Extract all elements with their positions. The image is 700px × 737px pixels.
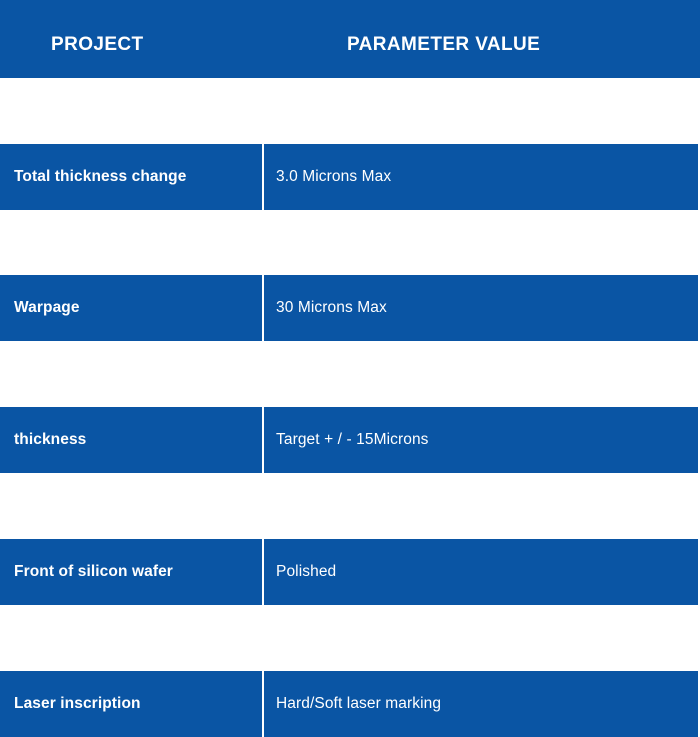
table-row: Warpage 30 Microns Max bbox=[0, 275, 698, 341]
table-header-row: PROJECT PARAMETER VALUE bbox=[0, 0, 700, 78]
table-row: Laser inscription Hard/Soft laser markin… bbox=[0, 671, 698, 737]
column-header-parameter-value: PARAMETER VALUE bbox=[347, 34, 540, 56]
table-row: Total thickness change 3.0 Microns Max bbox=[0, 144, 698, 210]
cell-parameter-value: Hard/Soft laser marking bbox=[264, 671, 698, 737]
cell-project-name: Laser inscription bbox=[0, 671, 262, 737]
cell-project-name: Front of silicon wafer bbox=[0, 539, 262, 605]
cell-parameter-value: 3.0 Microns Max bbox=[264, 144, 698, 210]
cell-project-name: thickness bbox=[0, 407, 262, 473]
cell-project-name: Warpage bbox=[0, 275, 262, 341]
column-header-project: PROJECT bbox=[51, 34, 144, 56]
cell-project-name: Total thickness change bbox=[0, 144, 262, 210]
cell-parameter-value: Polished bbox=[264, 539, 698, 605]
table-row: Front of silicon wafer Polished bbox=[0, 539, 698, 605]
specification-table: PROJECT PARAMETER VALUE Total thickness … bbox=[0, 0, 700, 735]
cell-parameter-value: 30 Microns Max bbox=[264, 275, 698, 341]
cell-parameter-value: Target + / - 15Microns bbox=[264, 407, 698, 473]
table-row: thickness Target + / - 15Microns bbox=[0, 407, 698, 473]
